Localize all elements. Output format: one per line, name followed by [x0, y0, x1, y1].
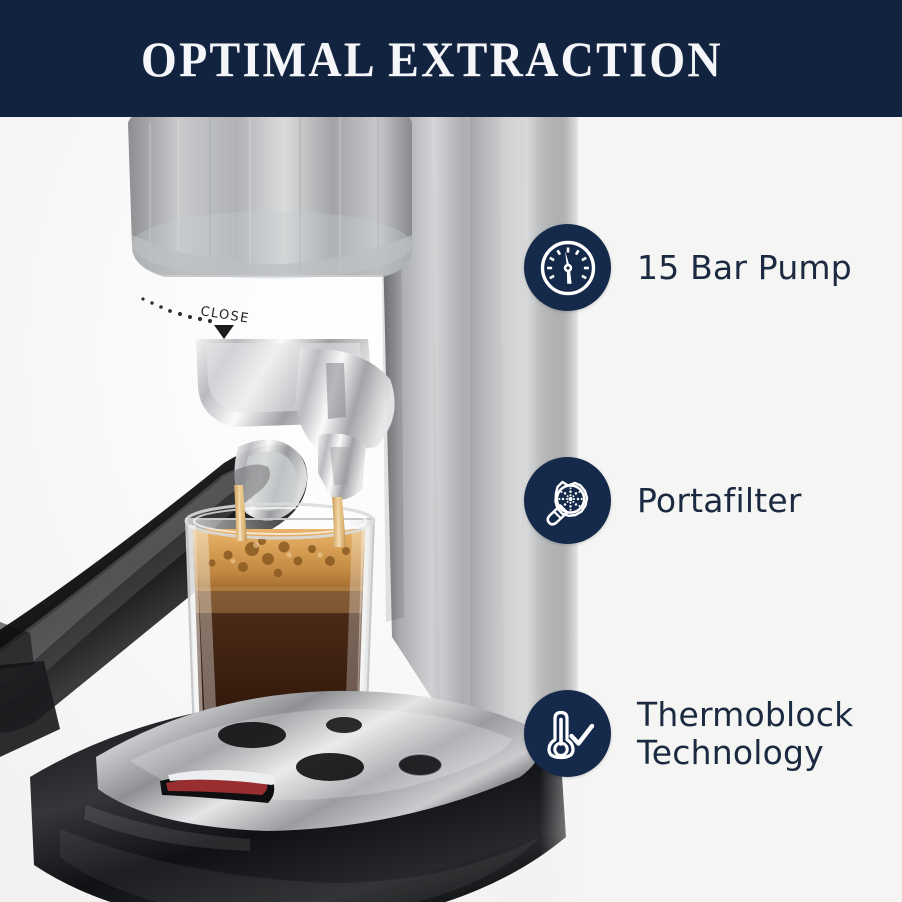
feature-item-pump: 15 Bar Pump [524, 224, 852, 311]
page-title: OPTIMAL EXTRACTION [141, 30, 723, 88]
feature-item-thermoblock: Thermoblock Technology [524, 690, 853, 777]
thermometer-check-icon [524, 690, 611, 777]
portafilter-icon [524, 457, 611, 544]
feature-label-thermoblock: Thermoblock Technology [637, 696, 853, 771]
feature-label-portafilter: Portafilter [637, 483, 802, 519]
pressure-gauge-icon [524, 224, 611, 311]
photo-illustration: CLOSE [0, 117, 578, 902]
header-band: OPTIMAL EXTRACTION [0, 0, 902, 117]
espresso-machine-photo: CLOSE [0, 117, 578, 902]
feature-item-portafilter: Portafilter [524, 457, 802, 544]
infographic-canvas: OPTIMAL EXTRACTION [0, 0, 902, 902]
feature-label-pump: 15 Bar Pump [637, 250, 852, 286]
